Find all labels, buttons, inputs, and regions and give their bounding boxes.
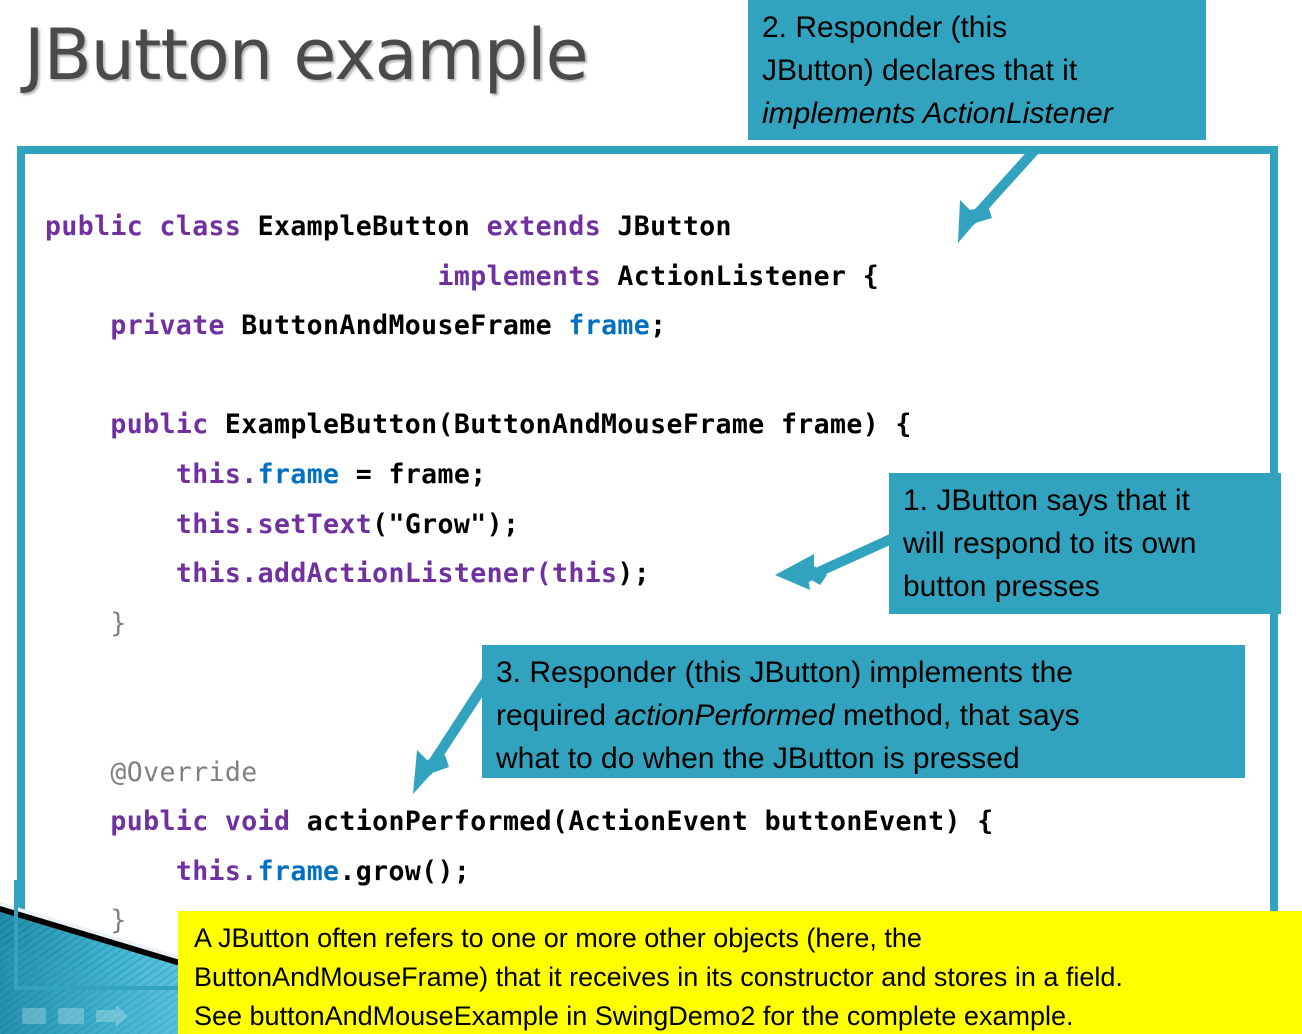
code-token	[45, 261, 438, 292]
code-token: this.	[176, 459, 258, 490]
code-token: this.setText	[176, 509, 372, 540]
code-token: this.	[176, 856, 258, 887]
callout-3-line-2-post: method, that says	[835, 699, 1080, 732]
code-token: frame	[258, 459, 340, 490]
code-token: ExampleButton(ButtonAndMouseFrame frame)…	[225, 409, 912, 440]
code-line: implements ActionListener {	[45, 252, 1265, 302]
callout-3-line-3: what to do when the JButton is pressed	[496, 737, 1233, 780]
note-line-2: ButtonAndMouseFrame) that it receives in…	[194, 958, 1292, 997]
callout-1-line-2: will respond to its own	[903, 522, 1269, 565]
callout-step-3: 3. Responder (this JButton) implements t…	[482, 645, 1245, 778]
callout-step-1: 1. JButton says that it will respond to …	[889, 473, 1281, 614]
code-token	[45, 558, 176, 589]
callout-1-line-1: 1. JButton says that it	[903, 479, 1269, 522]
code-token: );	[617, 558, 650, 589]
callout-3-line-1: 3. Responder (this JButton) implements t…	[496, 651, 1233, 694]
code-token: frame	[568, 310, 650, 341]
callout-2-line-2: JButton) declares that it	[762, 49, 1194, 92]
note-line-1: A JButton often refers to one or more ot…	[194, 919, 1292, 958]
code-line	[45, 351, 1265, 401]
code-token: = frame;	[339, 459, 486, 490]
note-callout: A JButton often refers to one or more ot…	[178, 911, 1302, 1034]
note-line-3: See buttonAndMouseExample in SwingDemo2 …	[194, 997, 1292, 1034]
callout-3-line-2-pre: required	[496, 699, 614, 732]
callout-2-line-1: 2. Responder (this	[762, 6, 1194, 49]
code-token: public	[110, 409, 224, 440]
code-line: public class ExampleButton extends JButt…	[45, 202, 1265, 252]
callout-2-emphasis: implements ActionListener	[762, 97, 1113, 130]
code-token: public class	[45, 211, 258, 242]
code-token: public void	[110, 806, 306, 837]
code-token: ExampleButton	[258, 211, 487, 242]
code-line: this.frame.grow();	[45, 847, 1265, 897]
callout-2-line-3: implements ActionListener	[762, 92, 1194, 135]
code-token	[45, 310, 110, 341]
code-line: public void actionPerformed(ActionEvent …	[45, 797, 1265, 847]
code-token: @Override	[45, 757, 258, 788]
slide-canvas: JButton example public class ExampleButt…	[0, 0, 1302, 1034]
code-token: }	[45, 905, 127, 936]
code-token: ButtonAndMouseFrame	[241, 310, 568, 341]
code-token	[45, 409, 110, 440]
code-token: }	[45, 955, 61, 986]
code-token: ("Grow");	[372, 509, 519, 540]
code-token: frame	[258, 856, 340, 887]
code-token: ActionListener {	[617, 261, 879, 292]
arrow-callout-1	[770, 528, 900, 598]
arrow-callout-2	[940, 140, 1050, 255]
code-token: extends	[487, 211, 618, 242]
callout-1-line-3: button presses	[903, 565, 1269, 608]
page-title: JButton example	[24, 14, 588, 96]
code-token: actionPerformed(ActionEvent buttonEvent)…	[307, 806, 994, 837]
code-token	[45, 806, 110, 837]
code-token: ;	[650, 310, 666, 341]
code-token: implements	[438, 261, 618, 292]
callout-3-line-2: required actionPerformed method, that sa…	[496, 694, 1233, 737]
callout-step-2: 2. Responder (this JButton) declares tha…	[748, 0, 1206, 140]
callout-3-emphasis: actionPerformed	[614, 699, 834, 732]
code-token	[45, 856, 176, 887]
code-token	[45, 509, 176, 540]
code-token: private	[110, 310, 241, 341]
code-token: JButton	[617, 211, 731, 242]
arrow-callout-3	[408, 668, 498, 798]
code-line: public ExampleButton(ButtonAndMouseFrame…	[45, 400, 1265, 450]
code-token: this.addActionListener(this	[176, 558, 618, 589]
code-token: }	[45, 608, 127, 639]
code-line: private ButtonAndMouseFrame frame;	[45, 301, 1265, 351]
code-token	[45, 459, 176, 490]
code-token: .grow();	[339, 856, 470, 887]
